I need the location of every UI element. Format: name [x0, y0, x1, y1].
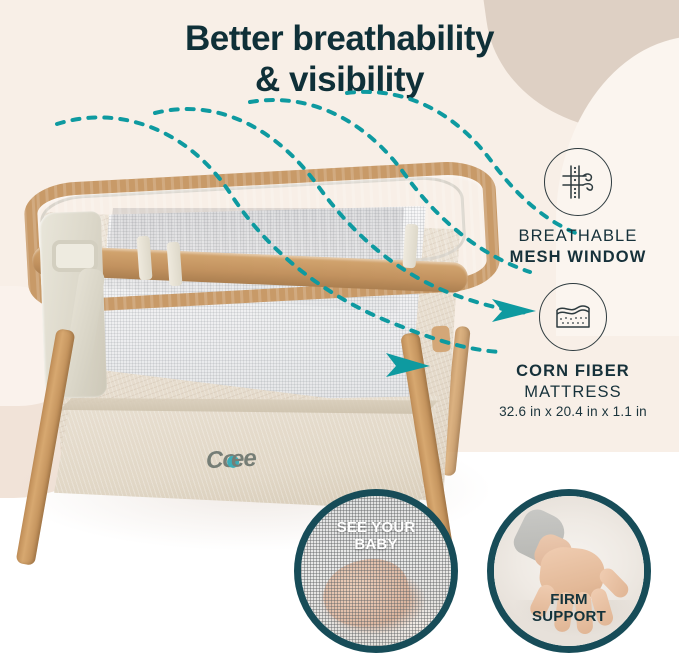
feature-label-line-1: CORN FIBER	[478, 361, 668, 382]
badge-label: SEE YOUR BABY	[301, 520, 451, 554]
page-title: Better breathability & visibility	[0, 18, 679, 101]
badge-firm-support: FIRM SUPPORT	[487, 489, 651, 653]
mattress-dimensions: 32.6 in x 20.4 in x 1.1 in	[478, 404, 668, 419]
feature-label-line-1: BREATHABLE	[483, 226, 673, 247]
feature-breathable-mesh: BREATHABLE MESH WINDOW	[483, 148, 673, 267]
breathable-mesh-icon	[544, 148, 612, 216]
badge-label: FIRM SUPPORT	[494, 592, 644, 626]
brand-logo: Coee	[205, 445, 256, 476]
corn-fiber-mattress-icon	[539, 283, 607, 351]
mesh-dots	[574, 167, 576, 198]
badge-label-line-1: FIRM	[494, 592, 644, 609]
feature-corn-fiber-mattress: CORN FIBER MATTRESS 32.6 in x 20.4 in x …	[478, 283, 668, 419]
brand-logo-suffix: ee	[230, 445, 256, 473]
badge-see-your-baby: SEE YOUR BABY	[294, 489, 458, 653]
breathable-mesh-icon-glyph	[555, 159, 601, 205]
feature-label-line-2: MATTRESS	[478, 382, 668, 403]
fiber-dots	[560, 317, 587, 324]
badge-label-line-1: SEE YOUR	[301, 520, 451, 537]
mattress-icon-glyph	[550, 296, 596, 338]
infographic-canvas: Better breathability & visibility	[0, 0, 679, 663]
feature-label-line-2: MESH WINDOW	[483, 247, 673, 268]
headline-line-2: & visibility	[0, 59, 679, 100]
badge-label-line-2: SUPPORT	[494, 609, 644, 626]
wooden-toggle-tab	[431, 325, 451, 352]
adjust-handle	[52, 240, 98, 272]
headline-line-1: Better breathability	[185, 19, 494, 58]
badge-label-line-2: BABY	[301, 537, 451, 554]
